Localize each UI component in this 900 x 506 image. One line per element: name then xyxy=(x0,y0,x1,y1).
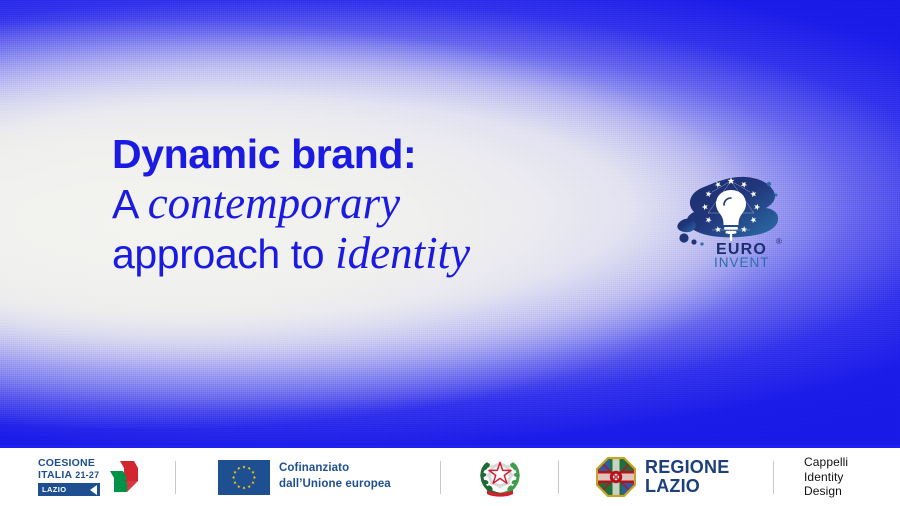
regione-lazio-line-1: REGIONE xyxy=(645,458,729,477)
logo-regione-lazio: REGIONE LAZIO xyxy=(596,448,729,506)
eu-text-line-1: Cofinanziato xyxy=(279,462,391,476)
euroinvent-word-invent: INVENT xyxy=(714,255,770,270)
title-line-3-plain: approach to xyxy=(112,231,335,277)
cappelli-line-2: Identity xyxy=(804,470,848,485)
title-line-2-plain: A xyxy=(112,181,148,227)
coesione-chevron-icon xyxy=(104,459,140,495)
euroinvent-logo: EURO INVENT ® xyxy=(672,168,790,272)
presentation-slide: Dynamic brand: A contemporary approach t… xyxy=(0,0,900,506)
logo-italian-republic xyxy=(478,448,522,506)
footer-divider-1 xyxy=(175,461,176,494)
footer-divider-2 xyxy=(440,461,441,494)
coesione-years: 21-27 xyxy=(75,471,99,480)
cappelli-line-1: Cappelli xyxy=(804,455,848,470)
logo-european-union: Cofinanziato dall’Unione europea xyxy=(218,448,391,506)
eu-text-line-2: dall’Unione europea xyxy=(279,478,391,492)
euroinvent-registered-icon: ® xyxy=(776,237,782,246)
logo-coesione-italia: COESIONE ITALIA 21-27 LAZIO xyxy=(38,448,140,506)
coesione-italia-word: ITALIA xyxy=(38,470,72,481)
coesione-line-1: COESIONE xyxy=(38,458,100,469)
eu-flag-icon xyxy=(218,460,270,495)
coesione-line-2: ITALIA 21-27 xyxy=(38,470,100,481)
title-line-1: Dynamic brand: xyxy=(112,132,632,178)
footer-divider-3 xyxy=(558,461,559,494)
title-line-3-italic: identity xyxy=(335,228,470,278)
coesione-region-badge: LAZIO xyxy=(38,483,100,496)
footer-divider-4 xyxy=(773,461,774,494)
slide-title: Dynamic brand: A contemporary approach t… xyxy=(112,132,632,279)
title-line-2: A contemporary xyxy=(112,178,632,228)
regione-lazio-octagon-icon xyxy=(596,457,636,497)
emblem-of-italy-icon xyxy=(478,455,522,499)
logo-cappelli-identity-design: Cappelli Identity Design xyxy=(804,448,848,506)
cappelli-line-3: Design xyxy=(804,484,848,499)
regione-lazio-line-2: LAZIO xyxy=(645,477,729,496)
title-line-2-italic: contemporary xyxy=(148,178,400,228)
title-line-3: approach to identity xyxy=(112,228,632,278)
footer-logo-bar: COESIONE ITALIA 21-27 LAZIO xyxy=(0,445,900,506)
